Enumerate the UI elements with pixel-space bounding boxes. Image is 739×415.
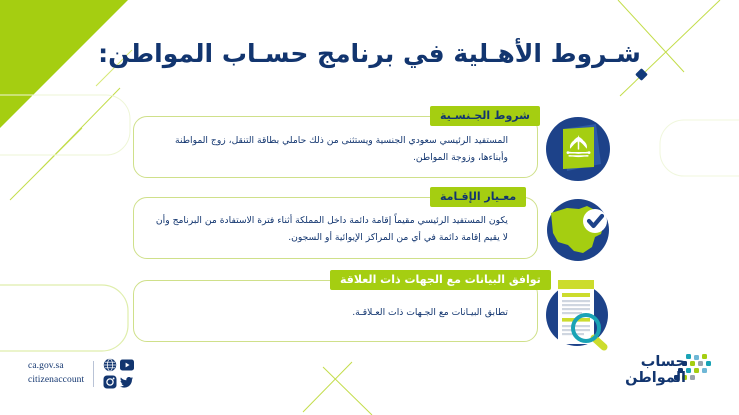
card-body-residency: يكون المستفيد الرئيسي مقيماً إقامة دائمة… <box>148 212 508 246</box>
logo-wordmark: حساب المواطن <box>625 355 686 386</box>
footer-link-website[interactable]: ca.gov.sa <box>28 360 84 373</box>
footer-link-handle[interactable]: citizenaccount <box>28 374 84 387</box>
cross-line <box>323 367 372 415</box>
logo-line-1: حساب <box>625 355 686 371</box>
rounded-rect-outline <box>0 95 130 155</box>
youtube-icon[interactable] <box>120 358 134 372</box>
brand-logo: حساب المواطن <box>620 352 716 400</box>
page-title: شـروط الأهـلية في برنامج حسـاب المواطن: <box>0 38 739 69</box>
footer-divider <box>93 361 94 387</box>
badge-connector-line <box>395 116 431 117</box>
website-globe-icon[interactable] <box>103 358 117 372</box>
card-badge-data-match: توافق البيانات مع الجهات ذات العلاقة <box>330 270 551 290</box>
cross-line <box>303 362 352 412</box>
saudi-map-check-icon <box>541 193 615 267</box>
twitter-icon[interactable] <box>120 375 134 389</box>
infographic-canvas: شـروط الأهـلية في برنامج حسـاب المواطن: … <box>0 0 739 415</box>
diamond-marker <box>635 68 648 81</box>
footer-links: ca.gov.sa citizenaccount <box>28 360 84 387</box>
rounded-rect-outline <box>660 120 739 176</box>
saudi-id-card-icon <box>541 112 615 186</box>
diagonal-line <box>40 88 120 170</box>
badge-connector-line <box>300 280 330 281</box>
rounded-rect-outline <box>0 285 128 351</box>
logo-line-2: المواطن <box>625 371 686 387</box>
social-icons <box>103 358 134 389</box>
badge-connector-line <box>395 197 431 198</box>
document-magnifier-icon <box>536 272 616 352</box>
card-body-data-match: تطابق البيـانات مع الجـهات ذات العـلاقـة… <box>148 304 508 321</box>
card-body-nationality: المستفيد الرئيسي سعودي الجنسية ويستثنى م… <box>148 132 508 166</box>
card-badge-nationality: شروط الجـنسـية <box>430 106 540 126</box>
card-badge-residency: معـيار الإقـامة <box>430 187 526 207</box>
instagram-icon[interactable] <box>103 375 117 389</box>
diagonal-line <box>10 128 82 200</box>
footer: ca.gov.sa citizenaccount <box>28 358 134 389</box>
